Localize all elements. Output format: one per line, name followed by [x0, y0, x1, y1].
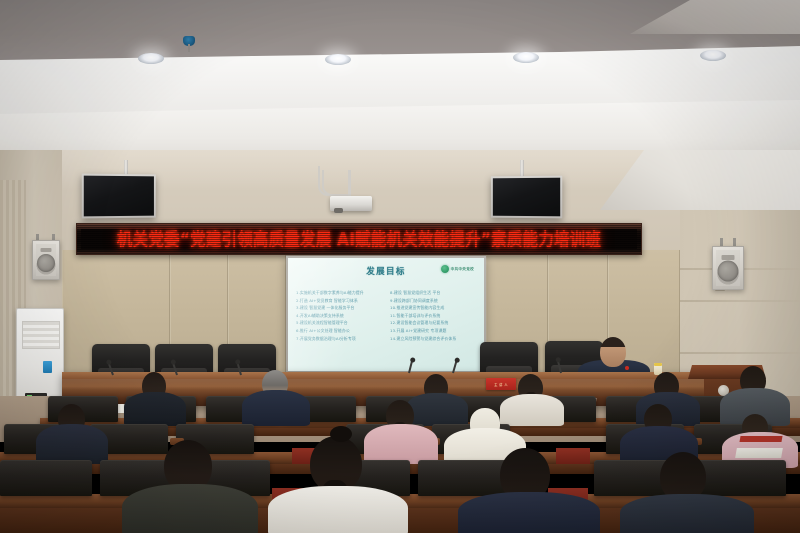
slide-item: 12.建设智能会议管理与纪要系统 [390, 319, 476, 327]
wall-reveal-line [680, 300, 800, 302]
notebook [735, 448, 783, 458]
ceiling-monitor-left [82, 174, 156, 219]
downlight-icon [700, 50, 726, 61]
slide-item: 10.推进党建宣传智能内容生成 [390, 304, 476, 312]
slide-logo-text: 中共中央党校 [451, 267, 474, 272]
led-banner-text: 机关党委“党建引领高质量发展 AI赋能机关效能提升”素质能力培训班 [117, 227, 601, 252]
slide-item: 4.开发AI辅助决策支持系统 [296, 312, 382, 320]
presenter-head [600, 337, 626, 367]
projector-cable [322, 170, 346, 196]
wall-speaker-right [712, 246, 744, 290]
slide-item: 9.建设跨部门协同调度系统 [390, 297, 476, 305]
downlight-icon [325, 54, 351, 65]
slide-item: 7.开展党务数据治理与AI分析专项 [296, 335, 382, 343]
projector-mount [348, 170, 351, 198]
sprinkler-icon [183, 36, 195, 52]
conference-room-photo: 机关党委“党建引领高质量发展 AI赋能机关效能提升”素质能力培训班 发展目标 中… [0, 0, 800, 533]
slide-item: 1.实施机关干部数字素养与AI能力提升 [296, 289, 382, 297]
audience-seat [418, 460, 510, 496]
slide-item: 8.建设 智慧党组织生活 平台 [390, 289, 476, 297]
downlight-icon [513, 52, 539, 63]
slide-item: 13.开展 AI+党建研究 专项课题 [390, 327, 476, 335]
notebook-cover [739, 436, 782, 442]
projection-screen: 发展目标 中共中央党校 1.实施机关干部数字素养与AI能力提升 2.打造 AI+… [286, 256, 486, 373]
slide-item: 14.建立风险预警与党建综合评价体系 [390, 335, 476, 343]
nameplate-text: 主 讲 人 [494, 382, 508, 387]
logo-mark-icon [441, 265, 449, 273]
slide-item: 5.建设机关流程智能管理平台 [296, 319, 382, 327]
wall-speaker-left [32, 240, 60, 280]
slide-item: 3.建设 智慧党建 一体化服务平台 [296, 304, 382, 312]
aisle-carpet [556, 448, 590, 464]
downlight-icon [138, 53, 164, 64]
led-banner-board: 机关党委“党建引领高质量发展 AI赋能机关效能提升”素质能力培训班 [76, 223, 642, 255]
audience-seat [694, 460, 786, 496]
slide-item: 6.推行 AI+公文处理 智能办公 [296, 327, 382, 335]
slide-logo: 中共中央党校 [441, 265, 474, 273]
slide-item: 11.智能干部培训与评价系统 [390, 312, 476, 320]
wall-reveal-line [680, 352, 800, 354]
ceiling-monitor-right [491, 176, 562, 219]
ceiling-projector [330, 196, 372, 211]
ac-energy-label [43, 361, 52, 373]
slide-column-right: 8.建设 智慧党组织生活 平台 9.建设跨部门协同调度系统 10.推进党建宣传智… [390, 289, 476, 364]
slide-item: 2.打造 AI+党员教育 智能学习体系 [296, 297, 382, 305]
ac-vent-grille [22, 321, 60, 349]
audience-seat [0, 460, 92, 496]
presenter-party-badge [625, 366, 629, 370]
slide-column-left: 1.实施机关干部数字素养与AI能力提升 2.打造 AI+党员教育 智能学习体系 … [296, 289, 382, 364]
nameplate: 主 讲 人 [486, 378, 516, 390]
